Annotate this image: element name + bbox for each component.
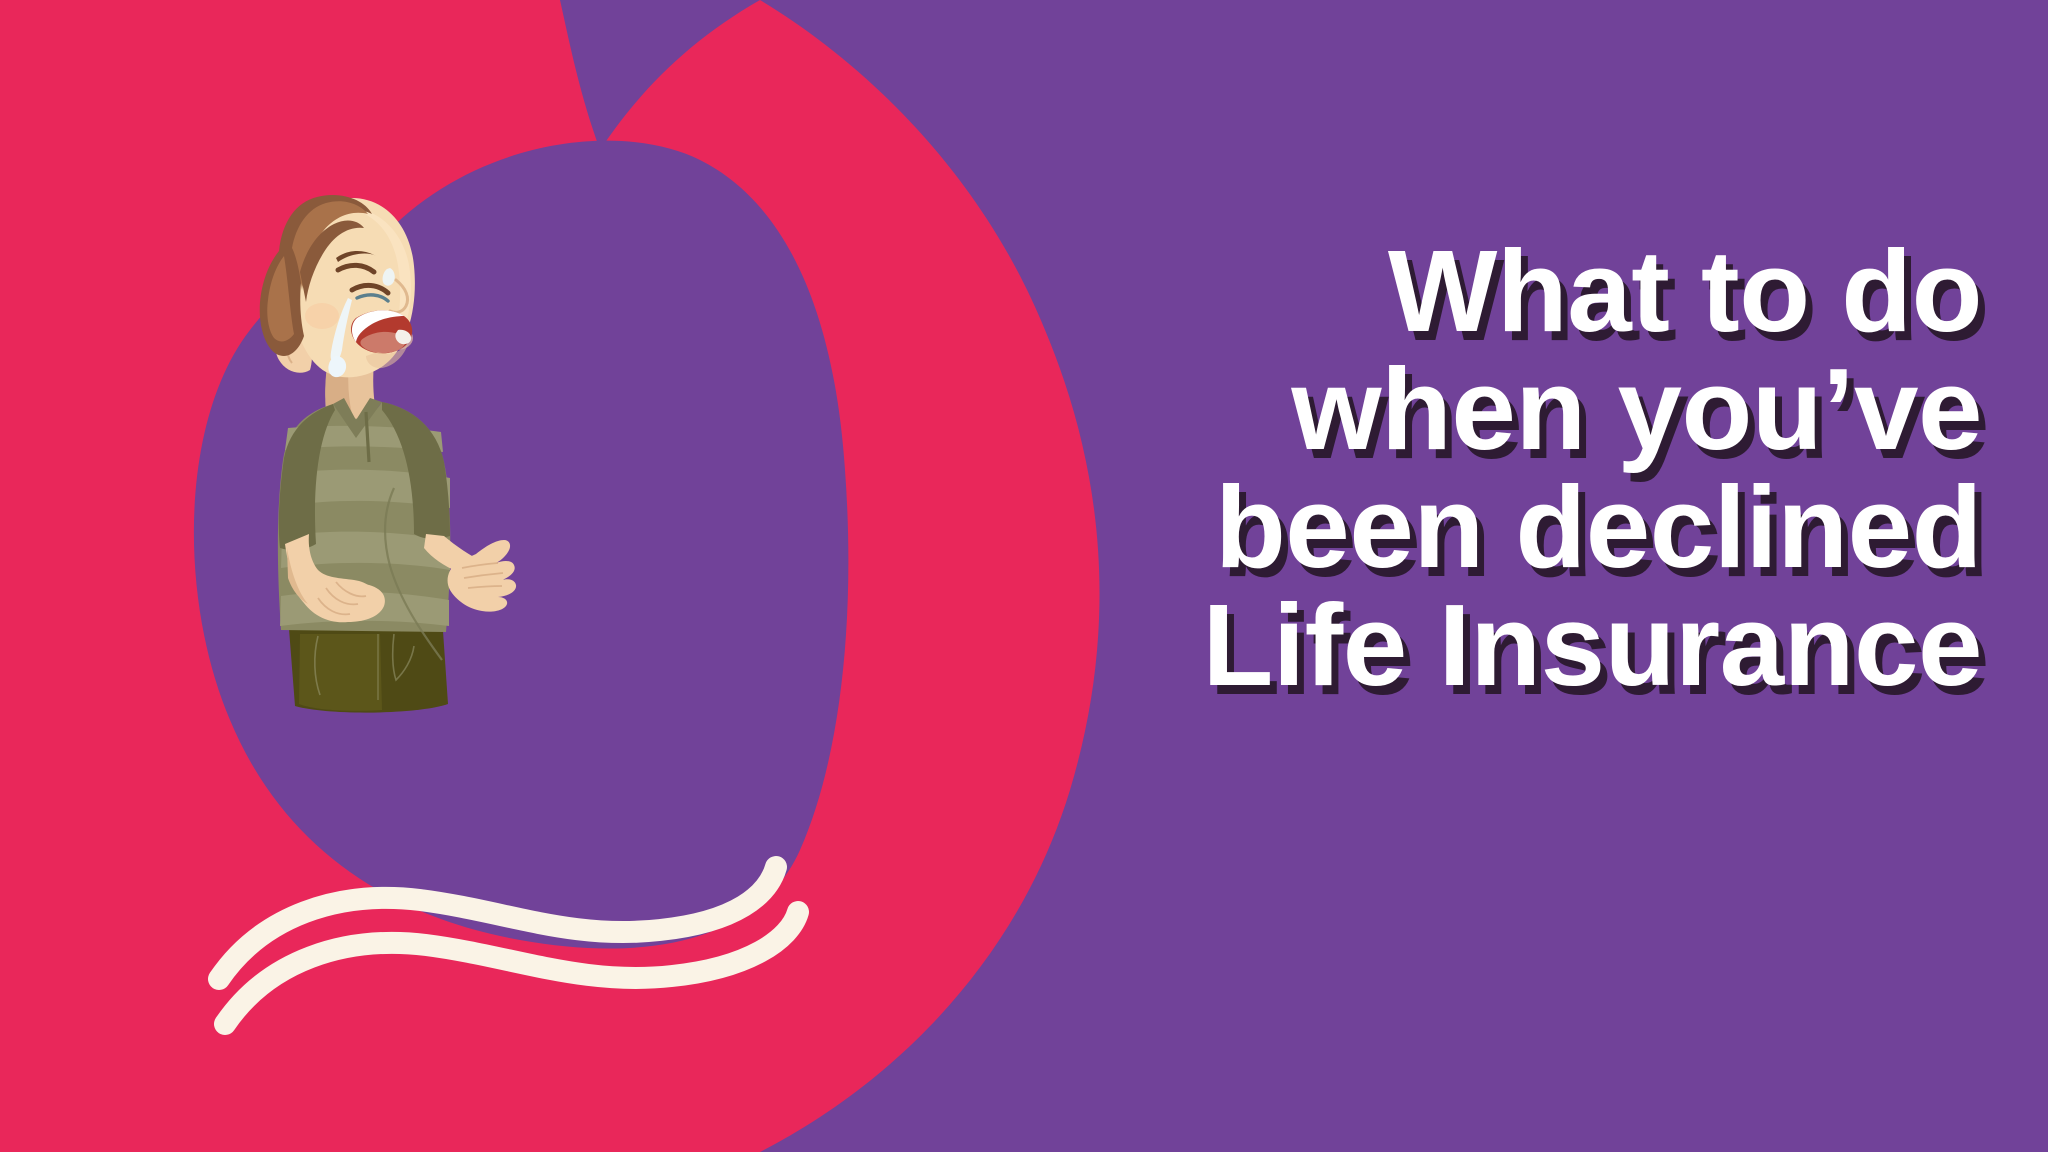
- character-pants-highlight: [299, 634, 382, 711]
- illustration-artwork: [0, 0, 2048, 1152]
- banner: What to do when you’ve been declined Lif…: [0, 0, 2048, 1152]
- character-cheek-left: [305, 303, 339, 329]
